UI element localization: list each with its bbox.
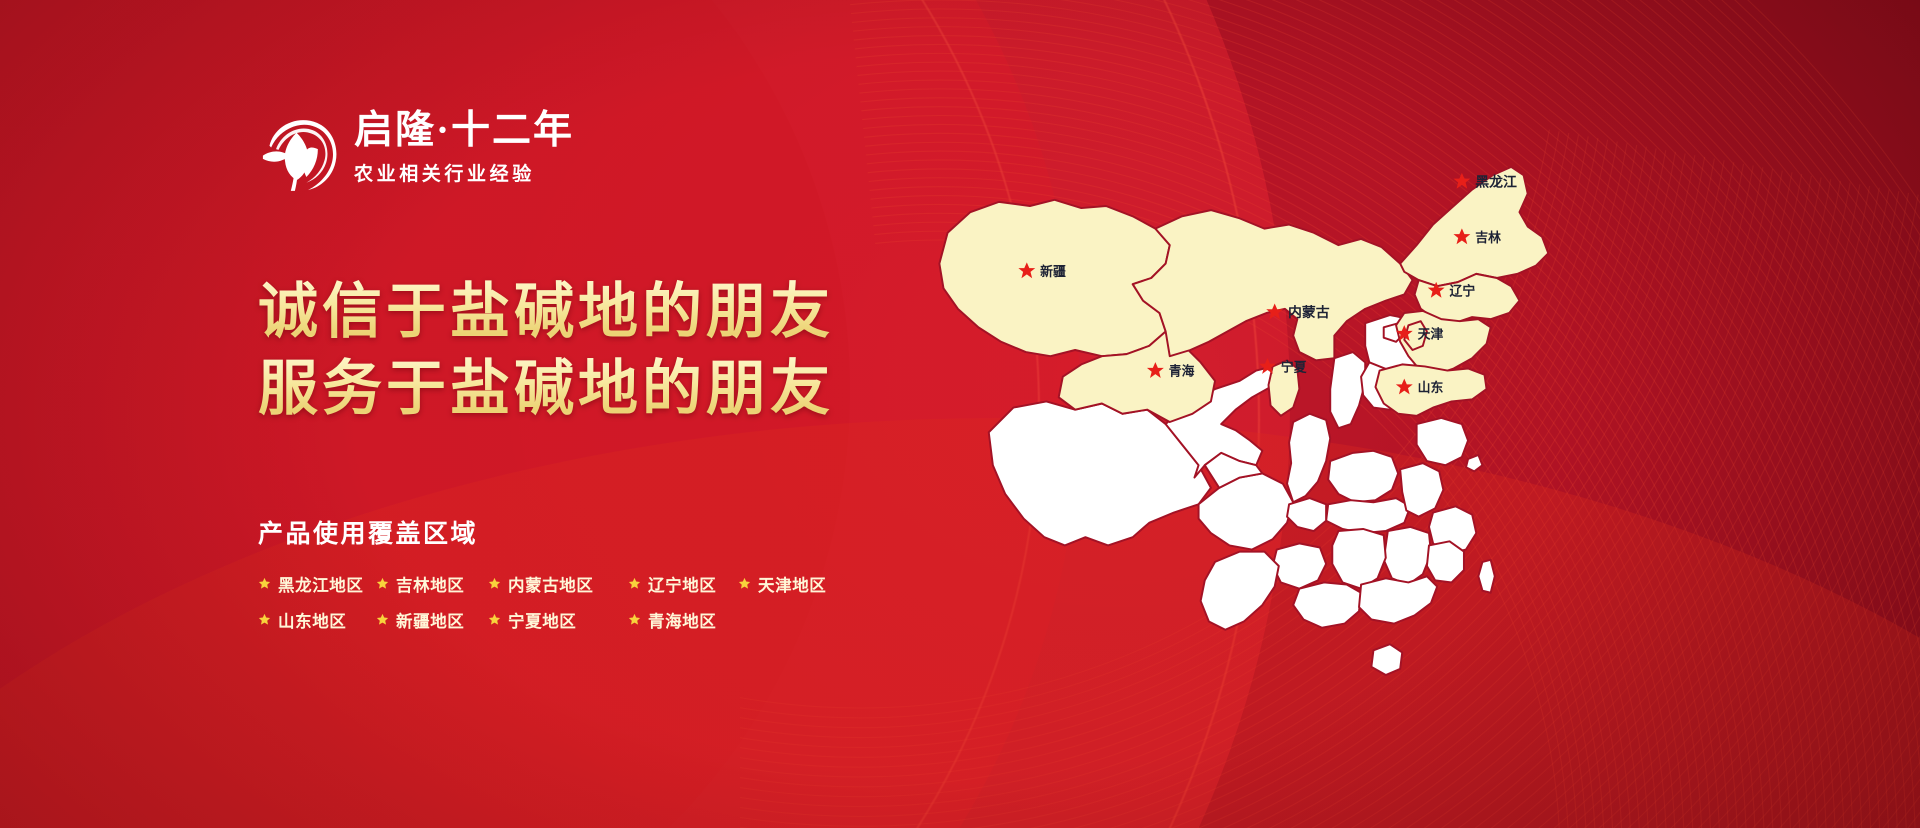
coverage-region-label: 山东地区 — [278, 608, 346, 632]
star-icon — [376, 577, 389, 590]
coverage-region-item[interactable]: 青海地区 — [628, 608, 738, 632]
coverage-region-item[interactable]: 山东地区 — [258, 608, 376, 632]
map-marker-label: 新疆 — [1040, 264, 1066, 279]
coverage-region-label: 辽宁地区 — [648, 572, 716, 596]
map-marker-label: 黑龙江 — [1475, 173, 1517, 190]
map-marker-label: 宁夏 — [1281, 360, 1307, 375]
coverage-region-item[interactable]: 宁夏地区 — [488, 608, 628, 632]
coverage-region-list: 黑龙江地区吉林地区内蒙古地区辽宁地区天津地区山东地区新疆地区宁夏地区青海地区 — [258, 572, 878, 632]
coverage-region-label: 天津地区 — [758, 572, 826, 596]
coverage-region-item[interactable]: 黑龙江地区 — [258, 572, 376, 596]
coverage-region-label: 新疆地区 — [396, 608, 464, 632]
coverage-region-label: 黑龙江地区 — [278, 572, 364, 596]
lotus-leaf-circle-icon — [258, 112, 340, 196]
coverage-region-item[interactable]: 辽宁地区 — [628, 572, 738, 596]
star-icon — [258, 577, 271, 590]
map-marker-label: 辽宁 — [1450, 283, 1476, 298]
coverage-region-label: 内蒙古地区 — [508, 572, 594, 596]
map-marker-label: 内蒙古 — [1288, 304, 1330, 321]
star-icon — [738, 577, 751, 590]
map-marker[interactable]: 内蒙古 — [1266, 304, 1330, 322]
star-icon — [628, 613, 641, 626]
star-icon — [628, 577, 641, 590]
star-icon — [488, 577, 501, 590]
star-marker-icon — [1453, 173, 1470, 189]
brand-name: 启隆·十二年 — [354, 110, 574, 152]
map-marker-label: 山东 — [1418, 380, 1444, 395]
coverage-region-item[interactable]: 内蒙古地区 — [488, 572, 628, 596]
map-marker-label: 天津 — [1418, 327, 1444, 342]
coverage-region-item[interactable]: 吉林地区 — [376, 572, 488, 596]
coverage-region-label: 宁夏地区 — [508, 608, 576, 632]
headline-line-1: 诚信于盐碱地的朋友 — [258, 274, 1038, 351]
map-marker-label: 吉林 — [1475, 230, 1501, 245]
coverage-region-item[interactable]: 天津地区 — [738, 572, 848, 596]
headline-line-2: 服务于盐碱地的朋友 — [258, 351, 1038, 428]
map-marker-label: 青海 — [1169, 364, 1195, 379]
star-icon — [258, 613, 271, 626]
coverage-region-item[interactable]: 新疆地区 — [376, 608, 488, 632]
coverage-region-label: 青海地区 — [648, 608, 716, 632]
logo-lockup: 启隆·十二年 农业相关行业经验 — [258, 108, 1038, 196]
coverage-block: 产品使用覆盖区域 黑龙江地区吉林地区内蒙古地区辽宁地区天津地区山东地区新疆地区宁… — [258, 514, 1038, 632]
coverage-title: 产品使用覆盖区域 — [258, 514, 1038, 550]
coverage-region-label: 吉林地区 — [396, 572, 464, 596]
star-icon — [488, 613, 501, 626]
star-icon — [376, 613, 389, 626]
map-marker[interactable]: 黑龙江 — [1453, 173, 1517, 191]
content-column: 启隆·十二年 农业相关行业经验 诚信于盐碱地的朋友 服务于盐碱地的朋友 产品使用… — [258, 108, 1038, 632]
promo-banner: 启隆·十二年 农业相关行业经验 诚信于盐碱地的朋友 服务于盐碱地的朋友 产品使用… — [0, 0, 1920, 828]
brand-subtitle: 农业相关行业经验 — [354, 159, 574, 186]
headline-block: 诚信于盐碱地的朋友 服务于盐碱地的朋友 — [258, 274, 1038, 428]
